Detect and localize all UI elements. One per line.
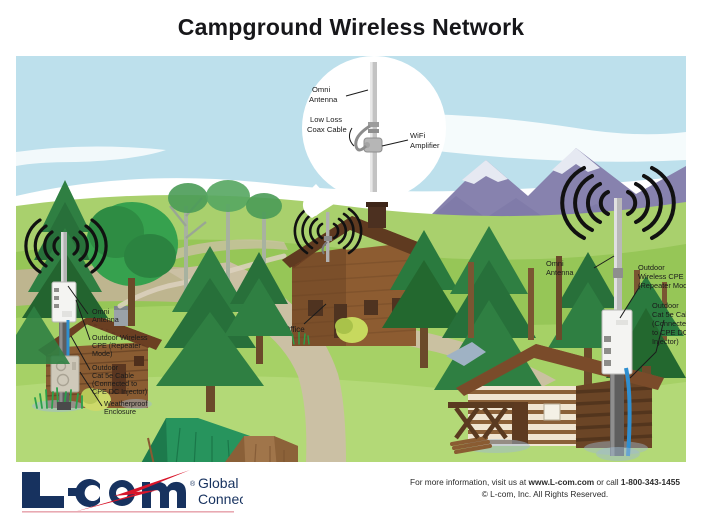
- logo-tagline-line2: Connectivity: [198, 491, 243, 507]
- label-cpe-right-l2: Wireless CPE: [638, 272, 684, 281]
- logo-letter-l: [22, 472, 64, 508]
- illustration-scene: Omni Antenna Outdoor Wireless CPE (Repea…: [16, 56, 686, 462]
- label-callout-amp-l2: Amplifier: [410, 141, 440, 150]
- label-cat5e-right-l5: Injector): [652, 337, 679, 346]
- label-callout-coax-l2: Coax Cable: [307, 125, 347, 134]
- footer-website-link[interactable]: www.L-com.com: [529, 477, 595, 487]
- label-omni-antenna-right-l2: Antenna: [546, 268, 574, 277]
- label-enclosure-left-l2: Enclosure: [104, 407, 136, 416]
- label-cpe-right-l3: (Repeater Mode): [638, 281, 686, 290]
- label-callout-amp-l1: WiFi: [410, 131, 425, 140]
- label-callout-omni-l2: Antenna: [309, 95, 338, 104]
- label-omni-antenna-left-l2: Antenna: [92, 315, 119, 324]
- footer: ® Global Connectivity For more informati…: [0, 462, 702, 527]
- label-cat5e-right-l4: to CPE DC: [652, 328, 686, 337]
- footer-copyright: © L-com, Inc. All Rights Reserved.: [400, 488, 690, 500]
- logo-tagline-line1: Global: [198, 475, 238, 491]
- footer-contact: For more information, visit us at www.L-…: [400, 476, 690, 500]
- label-callout-omni-l1: Omni: [312, 85, 330, 94]
- cpe-box-left: [52, 282, 76, 322]
- label-cpe-left-l3: Mode): [92, 349, 112, 358]
- logo-letter-c: [75, 479, 100, 507]
- page-title: Campground Wireless Network: [0, 14, 702, 41]
- label-cat5e-right-l1: Outdoor: [652, 301, 679, 310]
- label-callout-coax-l1: Low Loss: [310, 115, 342, 124]
- label-cpe-right-l1: Outdoor: [638, 263, 665, 272]
- chimney-center: [368, 204, 386, 228]
- footer-mid: or call: [594, 477, 621, 487]
- label-cat5e-right-l3: (Connected: [652, 319, 686, 328]
- poster-page: Campground Wireless Network: [0, 0, 702, 527]
- label-cat5e-right-l2: Cat 5e Cable: [652, 310, 686, 319]
- logo-registered-mark: ®: [190, 480, 196, 488]
- footer-phone: 1-800-343-1455: [621, 477, 680, 487]
- lcom-logo: ® Global Connectivity: [18, 468, 243, 516]
- footer-prefix: For more information, visit us at: [410, 477, 529, 487]
- cpe-box-right: [602, 310, 632, 374]
- label-cat5e-left-l4: CPE DC Injector): [92, 387, 147, 396]
- label-omni-antenna-right-l1: Omni: [546, 259, 564, 268]
- footer-line-1: For more information, visit us at www.L-…: [400, 476, 690, 488]
- callout-wifi-amplifier: [364, 138, 382, 152]
- logo-underline: [22, 511, 234, 513]
